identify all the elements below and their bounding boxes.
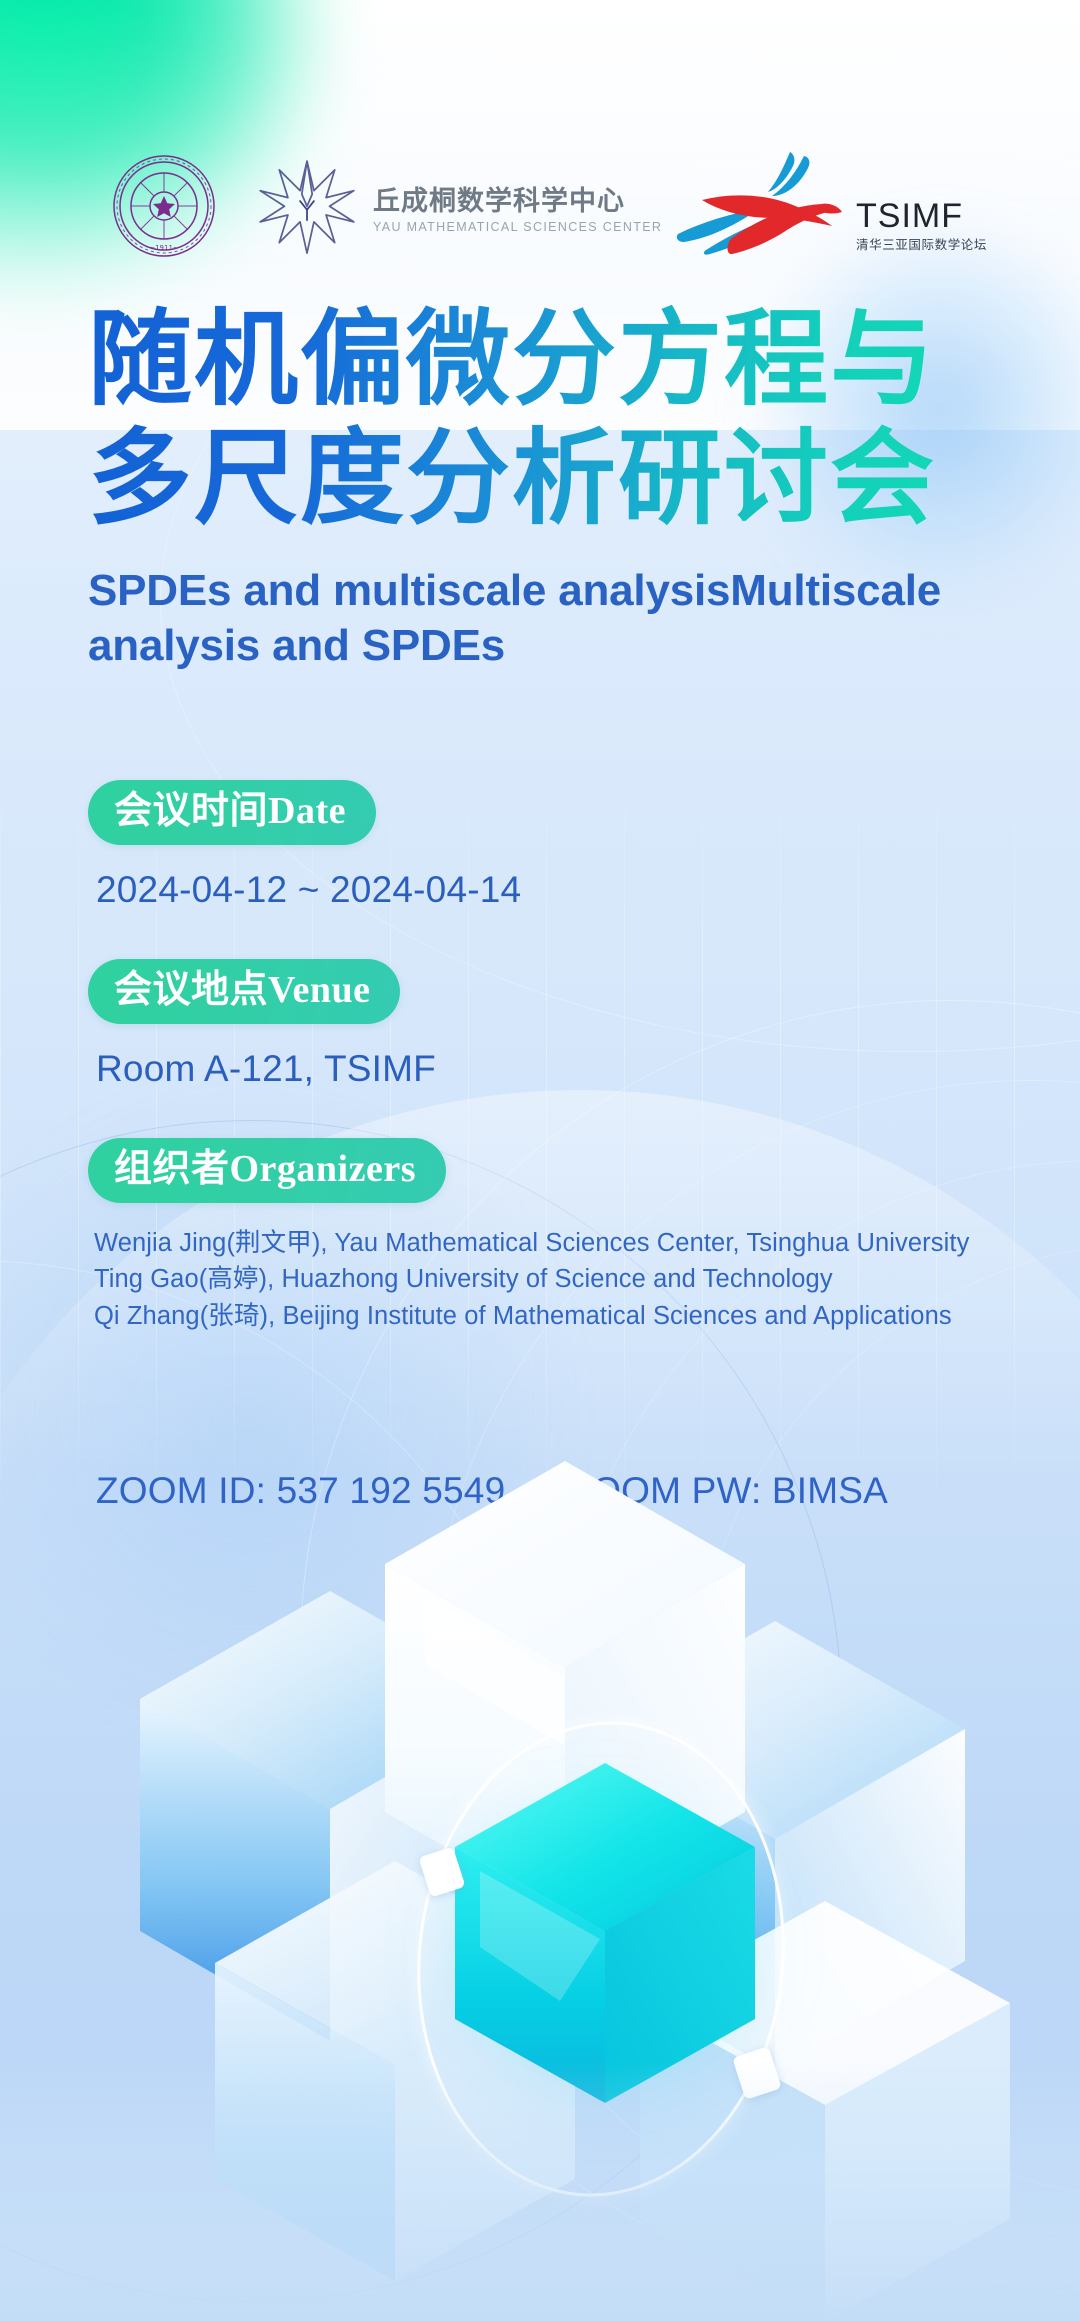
tsimf-label: TSIMF 清华三亚国际数学论坛 xyxy=(856,199,987,262)
venue-label-badge: 会议地点Venue xyxy=(88,959,400,1024)
tsinghua-seal-icon: ~1911~ xyxy=(112,154,216,263)
organizer-entry: Wenjia Jing(荆文甲), Yau Mathematical Scien… xyxy=(94,1225,1018,1261)
spacer-1 xyxy=(88,911,1018,959)
date-section: 会议时间Date 2024-04-12 ~ 2024-04-14 xyxy=(88,780,1018,911)
organizer-entry: Qi Zhang(张琦), Beijing Institute of Mathe… xyxy=(94,1298,1018,1334)
info-sections: 会议时间Date 2024-04-12 ~ 2024-04-14 会议地点Ven… xyxy=(88,780,1018,1334)
title-line-2: 多尺度分析研讨会 xyxy=(88,419,1008,538)
tsimf-abbr: TSIMF xyxy=(856,199,987,233)
ymsc-starburst-icon xyxy=(255,156,359,265)
tsimf-bird-icon xyxy=(672,146,850,261)
ymsc-name-cn: 丘成桐数学科学中心 xyxy=(373,188,662,215)
organizers-list: Wenjia Jing(荆文甲), Yau Mathematical Scien… xyxy=(94,1225,1018,1334)
venue-section: 会议地点Venue Room A-121, TSIMF xyxy=(88,959,1018,1090)
title-block: 随机偏微分方程与 多尺度分析研讨会 SPDEs and multiscale a… xyxy=(88,300,1008,673)
date-value: 2024-04-12 ~ 2024-04-14 xyxy=(96,869,1018,911)
ymsc-logo: 丘成桐数学科学中心 YAU MATHEMATICAL SCIENCES CENT… xyxy=(255,156,662,265)
organizers-label-badge: 组织者Organizers xyxy=(88,1138,446,1203)
tsimf-logo: TSIMF 清华三亚国际数学论坛 xyxy=(672,146,987,261)
venue-value: Room A-121, TSIMF xyxy=(96,1048,1018,1090)
art-bottom-fade xyxy=(0,2061,1080,2321)
title-line-1: 随机偏微分方程与 xyxy=(88,300,1008,419)
logo-row: ~1911~ 丘成桐数学科学中心 xyxy=(0,150,1080,260)
conference-poster: ~1911~ 丘成桐数学科学中心 xyxy=(0,0,1080,2321)
spacer-2 xyxy=(88,1090,1018,1138)
tsimf-name-cn: 清华三亚国际数学论坛 xyxy=(856,239,987,252)
ymsc-label: 丘成桐数学科学中心 YAU MATHEMATICAL SCIENCES CENT… xyxy=(373,188,662,234)
organizers-section: 组织者Organizers Wenjia Jing(荆文甲), Yau Math… xyxy=(88,1138,1018,1334)
date-label-badge: 会议时间Date xyxy=(88,780,376,845)
ymsc-name-en: YAU MATHEMATICAL SCIENCES CENTER xyxy=(373,221,662,234)
subtitle-english: SPDEs and multiscale analysisMultiscale … xyxy=(88,563,968,673)
svg-text:~1911~: ~1911~ xyxy=(149,244,179,252)
organizer-entry: Ting Gao(高婷), Huazhong University of Sci… xyxy=(94,1261,1018,1297)
isometric-cube-artwork xyxy=(0,1421,1080,2321)
